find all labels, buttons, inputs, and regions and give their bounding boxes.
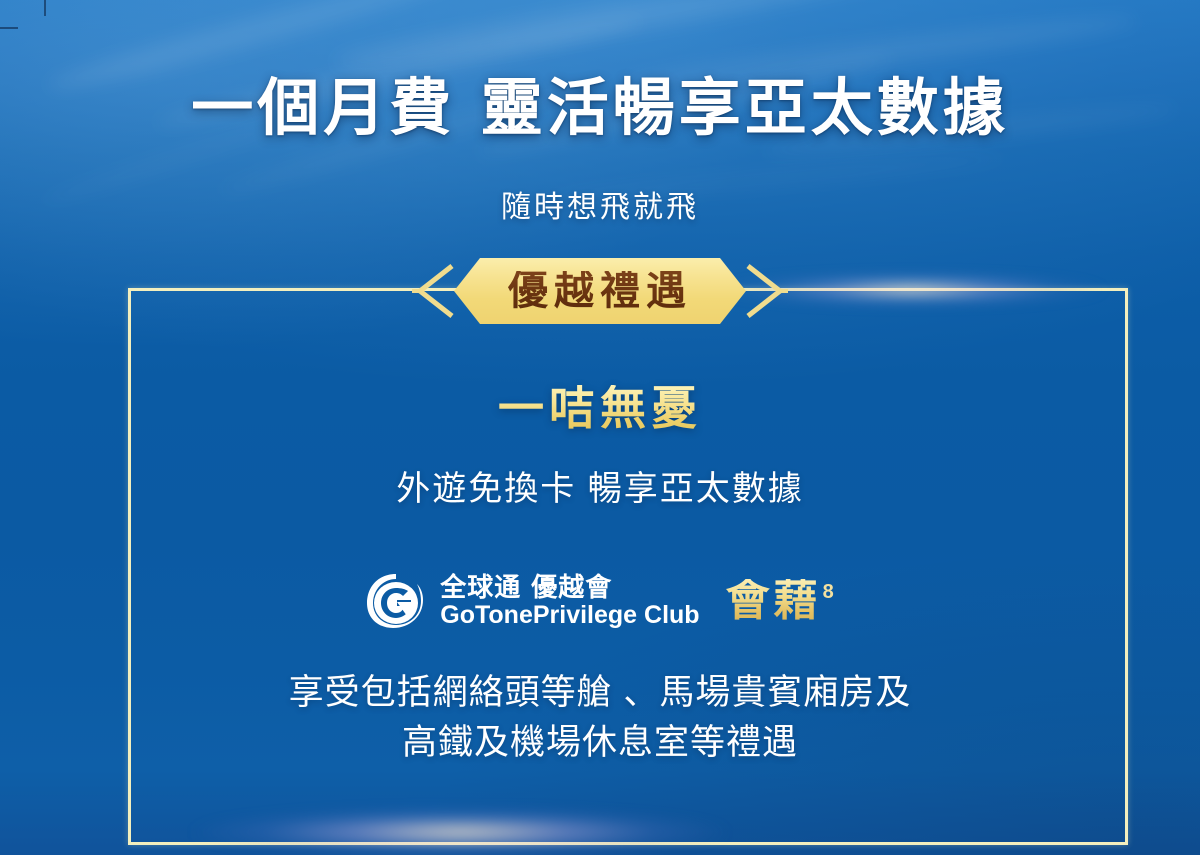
program-name-cn: 優越會: [531, 572, 612, 602]
ribbon-banner: 優越禮遇: [0, 250, 1200, 332]
promo-poster: 一個月費 靈活暢享亞太數據 隨時想飛就飛 優越禮遇 一咭無憂 外遊免換卡 暢享亞…: [0, 0, 1200, 855]
page-title: 一個月費 靈活暢享亞太數據: [0, 77, 1200, 139]
crop-mark: [44, 0, 46, 16]
benefit-line: 高鐵及機場休息室等禮遇: [0, 718, 1200, 768]
offer-title: 一咭無憂: [0, 385, 1200, 431]
ribbon-plate: 優越禮遇: [454, 258, 746, 324]
gotone-swoosh-icon: [366, 572, 426, 630]
brand-wordmark: 全球通優越會 GoTonePrivilege Club: [440, 574, 699, 628]
brand-name-cn: 全球通: [440, 572, 521, 602]
brand-lockup: 全球通優越會 GoTonePrivilege Club 會藉 8: [0, 572, 1200, 630]
program-name-en: Privilege Club: [533, 601, 700, 629]
membership-badge: 會藉 8: [726, 579, 834, 623]
chevron-left-icon: [412, 262, 456, 320]
benefit-list: 享受包括網絡頭等艙 、馬場貴賓廂房及 高鐵及機場休息室等禮遇: [0, 668, 1200, 767]
crop-mark: [0, 27, 18, 29]
ribbon-label: 優越禮遇: [508, 271, 692, 311]
benefit-line: 享受包括網絡頭等艙 、馬場貴賓廂房及: [0, 668, 1200, 718]
membership-footnote: 8: [823, 581, 834, 604]
chevron-right-icon: [744, 262, 788, 320]
brand-name-en: GoTone: [440, 601, 533, 629]
membership-label: 會藉: [726, 579, 822, 623]
offer-subtitle: 外遊免換卡 暢享亞太數據: [0, 461, 1200, 510]
page-subtitle: 隨時想飛就飛: [0, 182, 1200, 226]
